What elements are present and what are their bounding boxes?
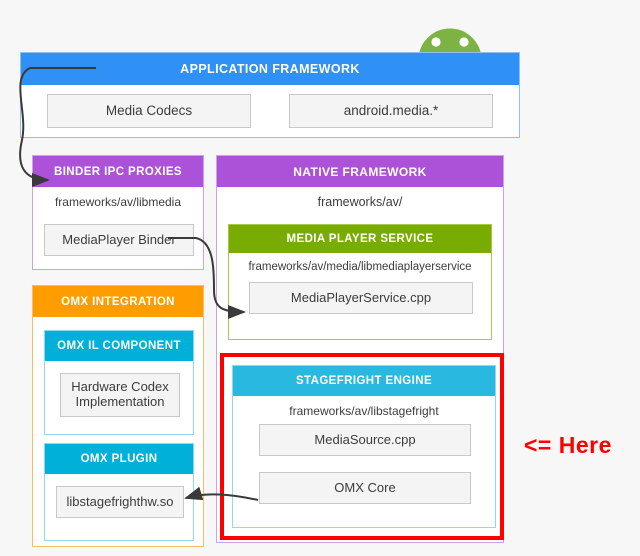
stagefright-highlight-box: STAGEFRIGHT ENGINE frameworks/av/libstag…: [220, 353, 504, 540]
binder-ipc-proxies-block: BINDER IPC PROXIES frameworks/av/libmedi…: [32, 155, 204, 270]
stagefright-header: STAGEFRIGHT ENGINE: [233, 366, 495, 396]
here-annotation: <= Here: [524, 432, 612, 459]
app-framework-header: APPLICATION FRAMEWORK: [21, 53, 519, 85]
omx-il-component-block: OMX IL COMPONENT Hardware Codex Implemen…: [44, 330, 194, 435]
chip-mediaplayerservice-cpp[interactable]: MediaPlayerService.cpp: [249, 282, 473, 314]
native-framework-path: frameworks/av/: [217, 187, 503, 209]
chip-mediaplayer-binder[interactable]: MediaPlayer Binder: [44, 224, 194, 256]
stagefright-engine-block: STAGEFRIGHT ENGINE frameworks/av/libstag…: [232, 365, 496, 528]
app-framework-body: Media Codecs android.media.*: [21, 85, 519, 137]
chip-mediasource-cpp[interactable]: MediaSource.cpp: [259, 424, 471, 456]
omx-plugin-block: OMX PLUGIN libstagefrighthw.so: [44, 443, 194, 541]
app-framework-block: APPLICATION FRAMEWORK Media Codecs andro…: [20, 52, 520, 138]
chip-omx-core[interactable]: OMX Core: [259, 472, 471, 504]
chip-android-media[interactable]: android.media.*: [289, 94, 493, 128]
omx-integration-block: OMX INTEGRATION OMX IL COMPONENT Hardwar…: [32, 285, 204, 547]
binder-ipc-header: BINDER IPC PROXIES: [33, 156, 203, 187]
native-framework-header: NATIVE FRAMEWORK: [217, 156, 503, 187]
chip-libstagefrighthw-so[interactable]: libstagefrighthw.so: [56, 486, 184, 518]
binder-ipc-path: frameworks/av/libmedia: [33, 187, 203, 209]
media-player-service-block: MEDIA PLAYER SERVICE frameworks/av/media…: [228, 224, 492, 340]
omx-il-header: OMX IL COMPONENT: [45, 331, 193, 361]
media-player-service-header: MEDIA PLAYER SERVICE: [229, 225, 491, 253]
omx-integration-header: OMX INTEGRATION: [33, 286, 203, 317]
media-player-service-path: frameworks/av/media/libmediaplayerservic…: [229, 253, 491, 273]
chip-hardware-codex-implementation[interactable]: Hardware Codex Implementation: [60, 373, 180, 417]
omx-plugin-header: OMX PLUGIN: [45, 444, 193, 474]
chip-media-codecs[interactable]: Media Codecs: [47, 94, 251, 128]
diagram-canvas: APPLICATION FRAMEWORK Media Codecs andro…: [0, 0, 640, 556]
stagefright-path: frameworks/av/libstagefright: [233, 396, 495, 418]
